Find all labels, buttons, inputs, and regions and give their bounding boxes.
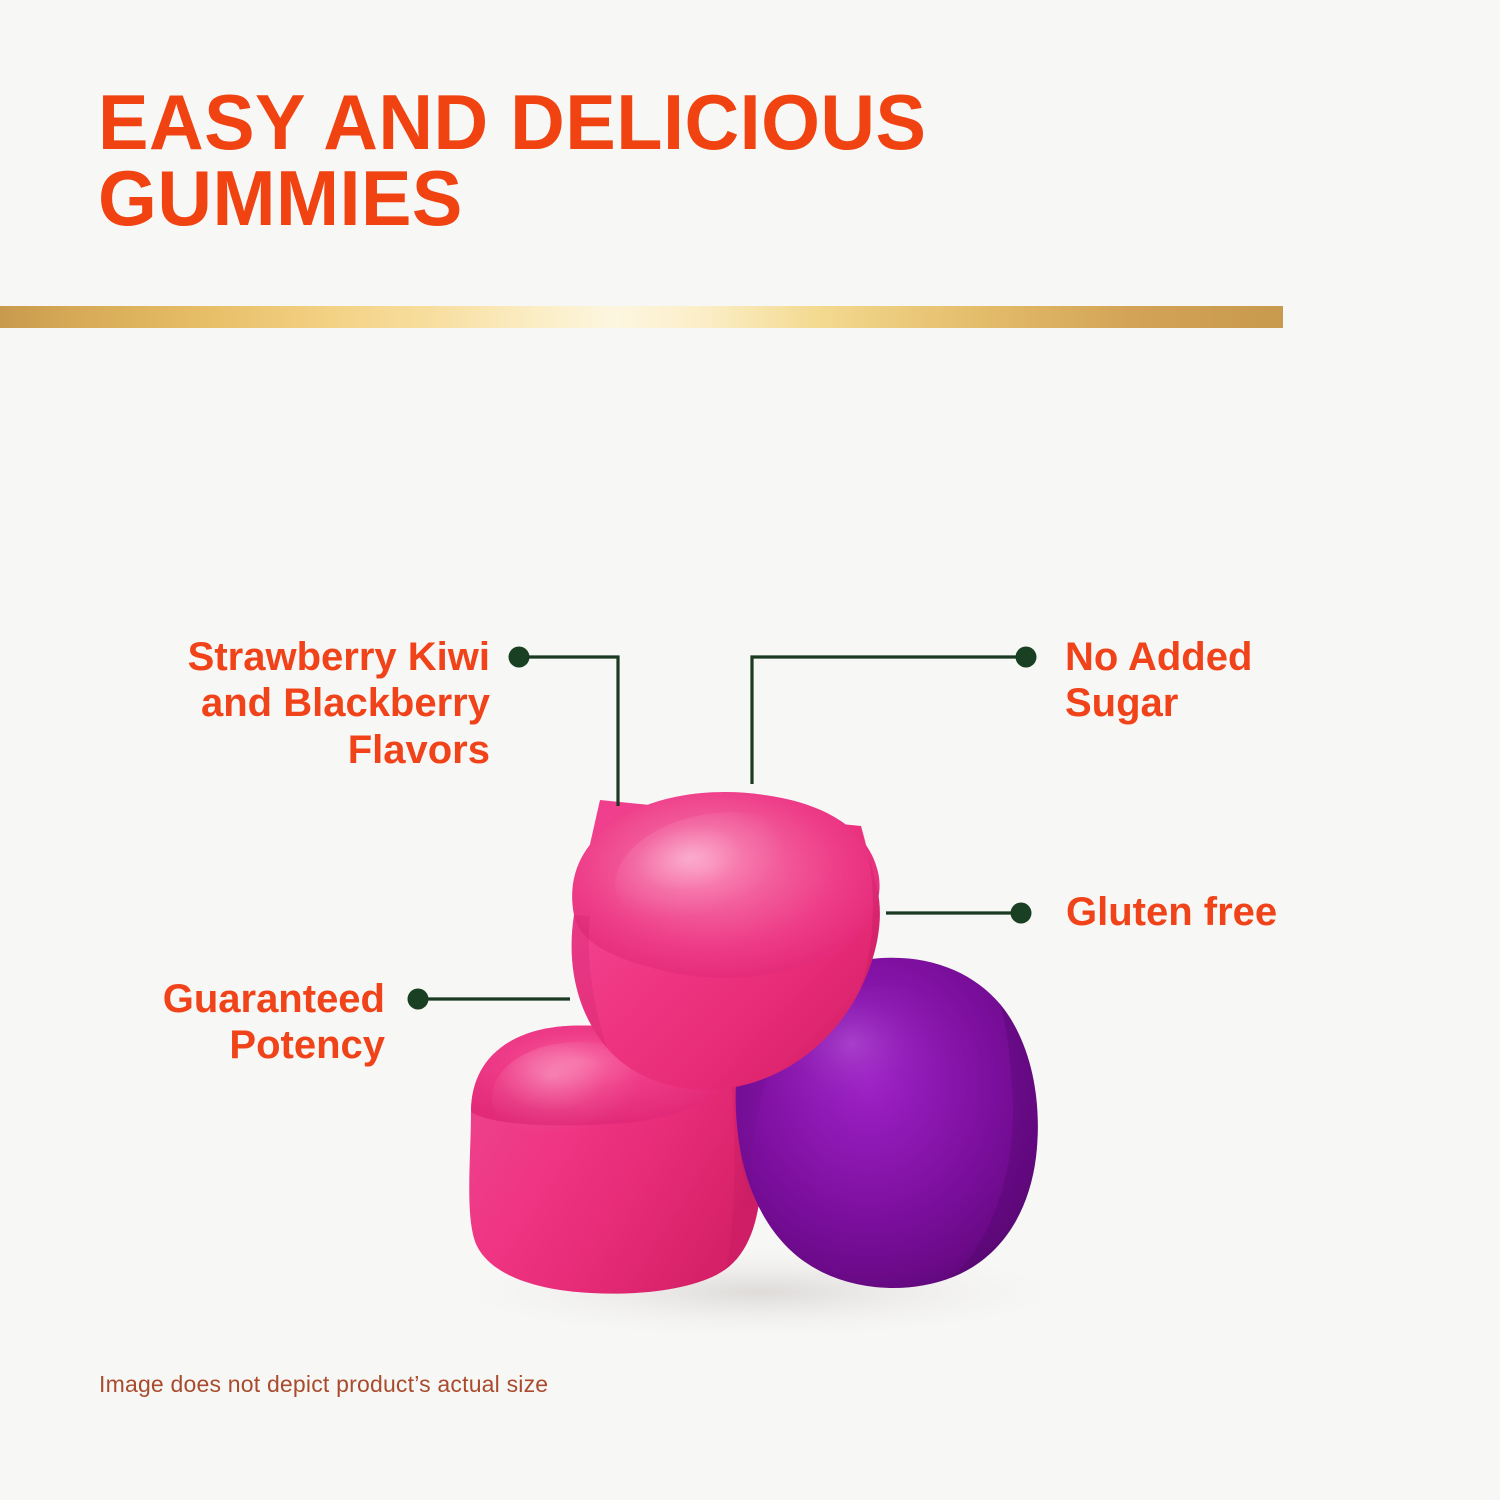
connector-dot-potency [408, 989, 429, 1010]
disclaimer-note: Image does not depict product’s actual s… [99, 1371, 548, 1398]
connector-flavors [522, 657, 618, 806]
connector-dot-flavors [509, 647, 530, 668]
callout-label-guaranteed-potency: Guaranteed Potency [40, 976, 385, 1069]
callout-label-gluten-free: Gluten free [1066, 889, 1466, 935]
connector-sugar [752, 657, 1023, 784]
connector-dot-gluten [1011, 903, 1032, 924]
connector-dot-sugar [1016, 647, 1037, 668]
callout-label-flavors: Strawberry Kiwi and Blackberry Flavors [40, 634, 490, 773]
callout-label-no-added-sugar: No Added Sugar [1065, 634, 1465, 727]
promo-canvas: EASY AND DELICIOUS GUMMIES [0, 0, 1500, 1500]
